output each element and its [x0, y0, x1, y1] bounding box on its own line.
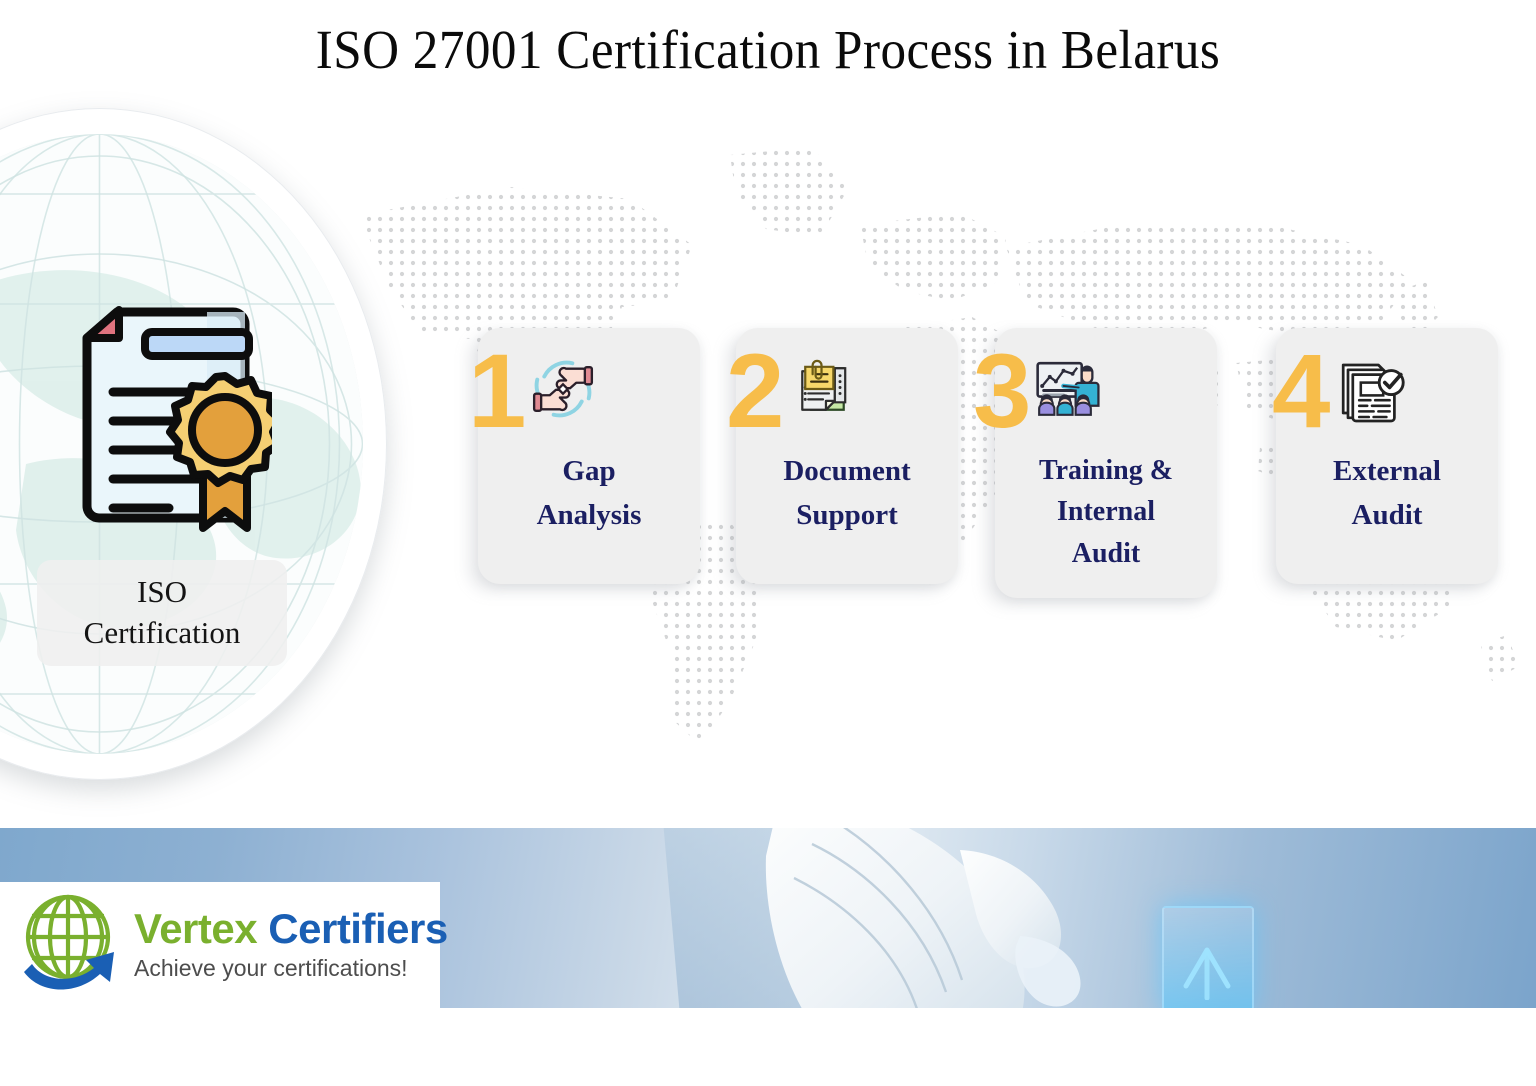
brand-name-first: Vertex	[134, 905, 257, 952]
step-number-1: 1	[468, 342, 522, 442]
certificate-award-icon	[57, 306, 272, 546]
step-card-1-header: 1	[478, 328, 700, 450]
step-3-label-line2: Internal	[1003, 491, 1209, 532]
step-card-1[interactable]: 1	[478, 328, 700, 584]
globe-arrow-logo-icon	[14, 890, 130, 1000]
training-presentation-icon	[1027, 351, 1103, 427]
infographic-canvas: ISO 27001 Certification Process in Belar…	[0, 0, 1536, 1086]
brand-logo[interactable]: Vertex Certifiers Achieve your certifica…	[0, 882, 440, 1008]
process-steps: 1	[470, 328, 1510, 608]
step-card-3-header: 3	[995, 328, 1217, 450]
step-number-4: 4	[1272, 342, 1326, 442]
medallion-label: ISO Certification	[37, 560, 287, 666]
step-card-3[interactable]: 3	[995, 328, 1217, 598]
brand-tagline: Achieve your certifications!	[134, 955, 448, 982]
step-1-label-line2: Analysis	[486, 494, 692, 538]
step-3-label-line3: Audit	[1003, 533, 1209, 574]
step-card-2[interactable]: 2	[736, 328, 958, 584]
brand-text: Vertex Certifiers Achieve your certifica…	[134, 908, 448, 982]
step-card-1-label: Gap Analysis	[478, 450, 700, 551]
step-number-3: 3	[973, 342, 1027, 442]
step-card-2-header: 2	[736, 328, 958, 450]
step-2-label-line1: Document	[744, 450, 950, 494]
medallion-label-line1: ISO	[137, 572, 187, 613]
documents-note-icon	[786, 352, 860, 426]
step-card-3-label: Training & Internal Audit	[995, 450, 1217, 588]
step-card-4-label: External Audit	[1276, 450, 1498, 551]
step-2-label-line2: Support	[744, 494, 950, 538]
step-4-label-line2: Audit	[1284, 494, 1490, 538]
step-card-2-label: Document Support	[736, 450, 958, 551]
medallion-label-line2: Certification	[84, 613, 241, 654]
brand-name-second: Certifiers	[268, 905, 447, 952]
hand-touching-screen-image	[660, 828, 1220, 1008]
step-4-label-line1: External	[1284, 450, 1490, 494]
step-card-4[interactable]: 4	[1276, 328, 1498, 584]
document-stack-check-icon	[1332, 349, 1412, 429]
step-card-4-header: 4	[1276, 328, 1498, 450]
glow-arrow-icon	[1178, 940, 1236, 1000]
page-title: ISO 27001 Certification Process in Belar…	[54, 18, 1482, 81]
step-3-label-line1: Training &	[1003, 450, 1209, 491]
handshake-collaboration-icon	[524, 350, 602, 428]
brand-name: Vertex Certifiers	[134, 908, 448, 950]
step-1-label-line1: Gap	[486, 450, 692, 494]
footer-banner: Vertex Certifiers Achieve your certifica…	[0, 828, 1536, 1008]
step-number-2: 2	[726, 342, 780, 442]
iso-certification-medallion: ISO Certification	[0, 108, 412, 808]
